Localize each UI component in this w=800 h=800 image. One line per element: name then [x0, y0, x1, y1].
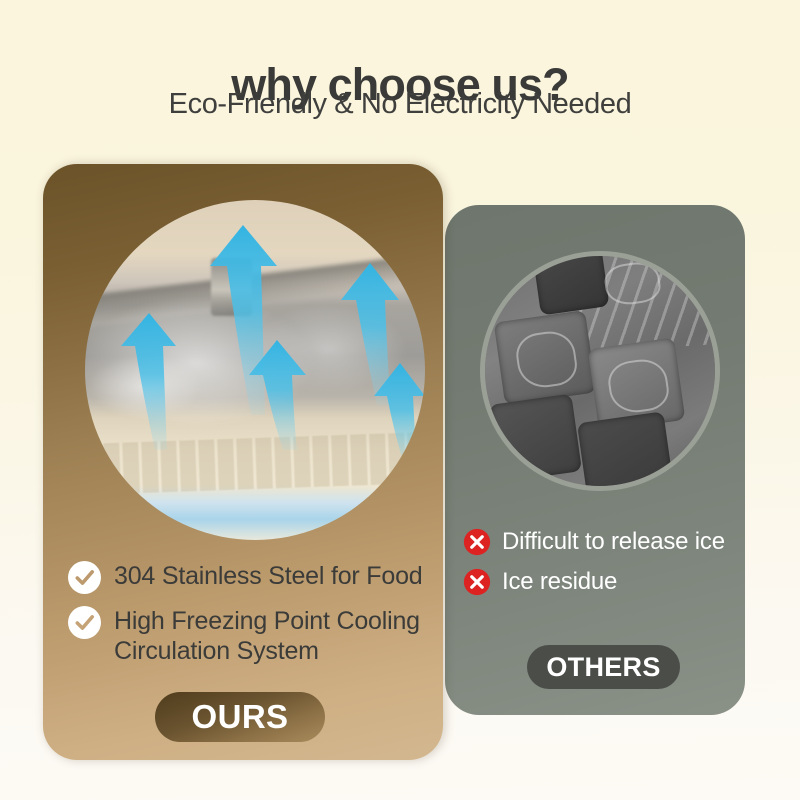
ours-feature-list: 304 Stainless Steel for Food High Freezi…	[68, 561, 438, 678]
others-feature-list: Difficult to release ice Ice residue	[463, 528, 753, 609]
list-item: High Freezing Point Cooling Circulation …	[68, 606, 438, 666]
check-circle-icon	[68, 561, 101, 594]
check-circle-icon	[68, 606, 101, 639]
list-item: 304 Stainless Steel for Food	[68, 561, 438, 594]
comparison-poster: why choose us? Eco-Friendly & No Electri…	[0, 0, 800, 800]
ice-cube	[489, 393, 582, 482]
others-card	[445, 205, 745, 715]
ours-photo	[85, 200, 425, 540]
others-photo	[480, 251, 720, 491]
list-item-label: Ice residue	[502, 568, 617, 596]
others-badge: OTHERS	[527, 645, 680, 689]
others-badge-label: OTHERS	[546, 652, 660, 683]
ice-cube	[531, 251, 609, 316]
others-photo-art	[485, 256, 715, 486]
ours-badge: OURS	[155, 692, 325, 742]
page-subtitle: Eco-Friendly & No Electricity Needed	[0, 88, 800, 121]
x-circle-icon	[463, 528, 491, 556]
list-item-label: 304 Stainless Steel for Food	[114, 561, 422, 592]
airflow-arrows	[85, 200, 425, 540]
list-item-label: High Freezing Point Cooling Circulation …	[114, 606, 438, 666]
ours-badge-label: OURS	[192, 698, 289, 736]
list-item: Ice residue	[463, 568, 753, 596]
x-circle-icon	[463, 568, 491, 596]
ice-cube	[577, 411, 674, 491]
list-item: Difficult to release ice	[463, 528, 753, 556]
up-arrow-icon	[121, 313, 176, 450]
list-item-label: Difficult to release ice	[502, 528, 725, 556]
